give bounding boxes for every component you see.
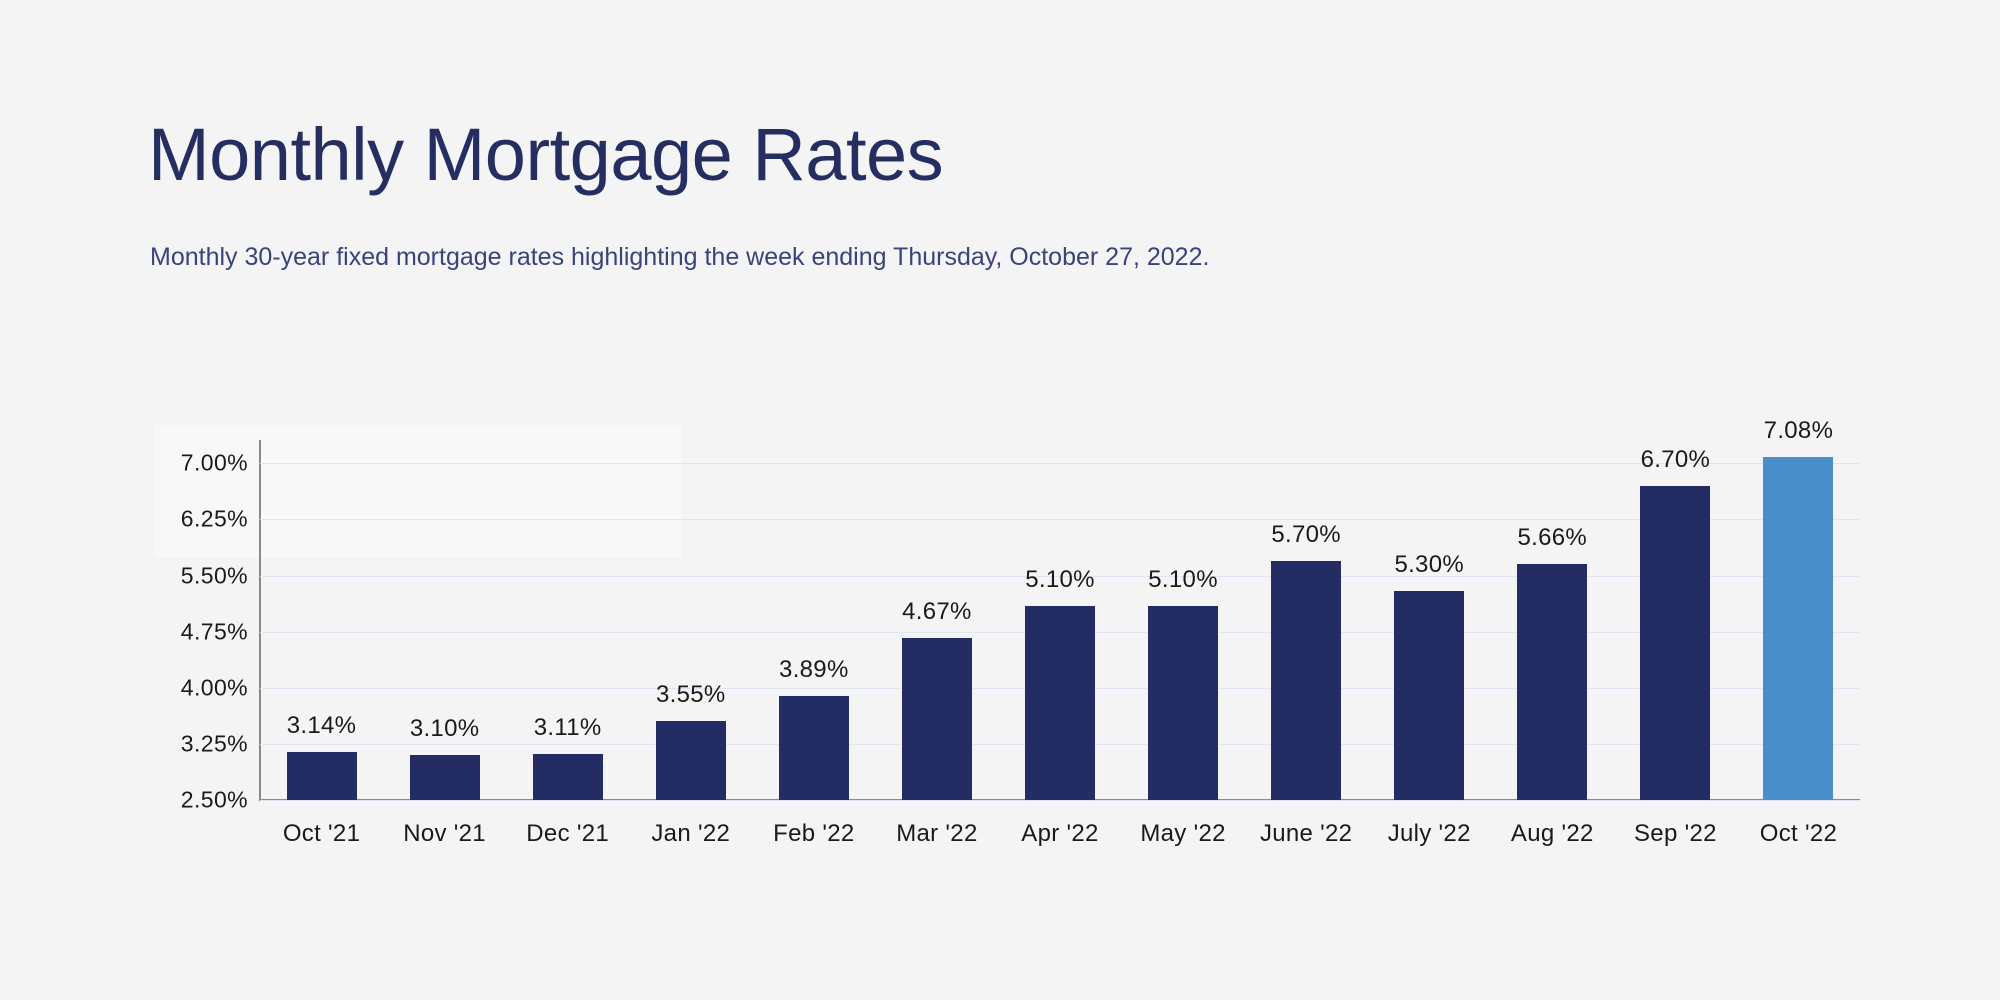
bar-group[interactable]: 7.08%Oct '22 bbox=[1737, 440, 1860, 800]
bar-value-label: 7.08% bbox=[1764, 417, 1834, 445]
x-axis-tick-label: Sep '22 bbox=[1634, 820, 1717, 848]
y-axis-tick-label: 4.00% bbox=[181, 674, 248, 701]
x-axis-tick-label: Oct '21 bbox=[283, 820, 360, 848]
bar-group[interactable]: 3.55%Jan '22 bbox=[629, 440, 752, 800]
bar-value-label: 3.55% bbox=[656, 681, 726, 709]
bar[interactable]: 3.89% bbox=[779, 696, 849, 800]
bar-value-label: 5.70% bbox=[1271, 521, 1341, 549]
bar-value-label: 6.70% bbox=[1641, 446, 1711, 474]
bar-group[interactable]: 3.11%Dec '21 bbox=[506, 440, 629, 800]
x-axis-tick-label: Nov '21 bbox=[403, 820, 486, 848]
bar[interactable]: 5.10% bbox=[1025, 606, 1095, 800]
bar[interactable]: 3.11% bbox=[533, 754, 603, 800]
bar-value-label: 3.14% bbox=[287, 712, 357, 740]
x-axis-tick-label: Feb '22 bbox=[773, 820, 854, 848]
bar-value-label: 5.10% bbox=[1025, 566, 1095, 594]
chart-plot-shell: 7.00%6.25%5.50%4.75%4.00%3.25%2.50% 3.14… bbox=[155, 425, 1860, 810]
bar-group[interactable]: 5.10%May '22 bbox=[1122, 440, 1245, 800]
bar-value-label: 3.10% bbox=[410, 715, 480, 743]
y-axis-tick-label: 4.75% bbox=[181, 618, 248, 645]
bar[interactable]: 5.70% bbox=[1271, 561, 1341, 800]
bar-group[interactable]: 5.30%July '22 bbox=[1368, 440, 1491, 800]
y-axis-tick-label: 6.25% bbox=[181, 506, 248, 533]
bar-group[interactable]: 3.89%Feb '22 bbox=[752, 440, 875, 800]
x-axis-tick-label: June '22 bbox=[1260, 820, 1352, 848]
chart-subtitle: Monthly 30-year fixed mortgage rates hig… bbox=[150, 245, 1209, 270]
y-axis-tick-label: 2.50% bbox=[181, 787, 248, 814]
bar[interactable]: 4.67% bbox=[902, 638, 972, 800]
x-axis-tick-label: Dec '21 bbox=[526, 820, 609, 848]
plot-area: 3.14%Oct '213.10%Nov '213.11%Dec '213.55… bbox=[260, 440, 1860, 800]
x-axis-tick-label: Apr '22 bbox=[1021, 820, 1098, 848]
bar-group[interactable]: 3.14%Oct '21 bbox=[260, 440, 383, 800]
bar-group[interactable]: 5.66%Aug '22 bbox=[1491, 440, 1614, 800]
bar-group[interactable]: 5.70%June '22 bbox=[1245, 440, 1368, 800]
y-axis-tick-label: 7.00% bbox=[181, 450, 248, 477]
gridline bbox=[260, 800, 1860, 801]
bar-value-label: 5.30% bbox=[1394, 551, 1464, 579]
x-axis-tick-label: July '22 bbox=[1388, 820, 1471, 848]
bar-value-label: 5.10% bbox=[1148, 566, 1218, 594]
bar[interactable]: 6.70% bbox=[1640, 486, 1710, 800]
bar[interactable]: 5.30% bbox=[1394, 591, 1464, 800]
bar-value-label: 3.89% bbox=[779, 656, 849, 684]
bar-value-label: 5.66% bbox=[1518, 524, 1588, 552]
bar[interactable]: 5.66% bbox=[1517, 564, 1587, 800]
bar-group[interactable]: 5.10%Apr '22 bbox=[998, 440, 1121, 800]
bar-value-label: 4.67% bbox=[902, 598, 972, 626]
bar-group[interactable]: 4.67%Mar '22 bbox=[875, 440, 998, 800]
x-axis-tick-label: May '22 bbox=[1140, 820, 1225, 848]
bar[interactable]: 3.14% bbox=[287, 752, 357, 800]
x-axis-tick-label: Oct '22 bbox=[1760, 820, 1837, 848]
y-axis-tick-label: 3.25% bbox=[181, 730, 248, 757]
bar-group[interactable]: 3.10%Nov '21 bbox=[383, 440, 506, 800]
bar[interactable]: 3.55% bbox=[656, 721, 726, 800]
x-axis-tick-label: Jan '22 bbox=[651, 820, 730, 848]
bar[interactable]: 5.10% bbox=[1148, 606, 1218, 800]
bar[interactable]: 3.10% bbox=[410, 755, 480, 800]
page-title: Monthly Mortgage Rates bbox=[148, 118, 943, 192]
x-axis-tick-label: Aug '22 bbox=[1511, 820, 1594, 848]
y-axis-tick-label: 5.50% bbox=[181, 562, 248, 589]
bar-highlighted[interactable]: 7.08% bbox=[1763, 457, 1833, 800]
bar-value-label: 3.11% bbox=[534, 714, 602, 742]
chart-page: Monthly Mortgage Rates Monthly 30-year f… bbox=[0, 0, 2000, 1000]
x-axis-tick-label: Mar '22 bbox=[896, 820, 977, 848]
bar-group[interactable]: 6.70%Sep '22 bbox=[1614, 440, 1737, 800]
